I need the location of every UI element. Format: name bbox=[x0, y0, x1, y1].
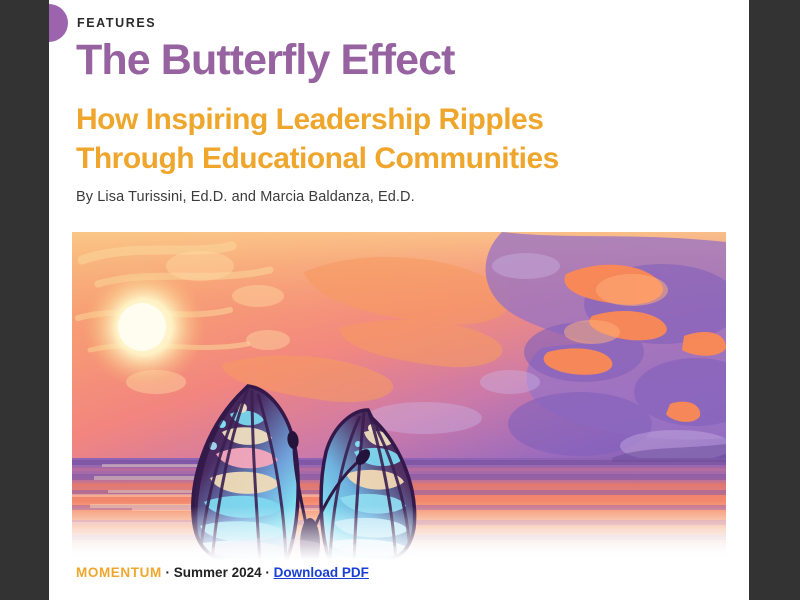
section-kicker: FEATURES bbox=[77, 16, 156, 30]
meta-separator-1: · bbox=[162, 565, 174, 580]
hero-image bbox=[72, 232, 726, 560]
publication-name: MOMENTUM bbox=[76, 565, 162, 580]
article-canvas: FEATURES The Butterfly Effect How Inspir… bbox=[49, 0, 749, 600]
meta-separator-2: · bbox=[262, 565, 274, 580]
article-meta: MOMENTUM · Summer 2024 · Download PDF bbox=[76, 565, 369, 580]
browser-page: FEATURES The Butterfly Effect How Inspir… bbox=[0, 0, 800, 600]
article-subtitle-line-2: Through Educational Communities bbox=[76, 139, 736, 178]
decorative-circle bbox=[49, 4, 68, 42]
article-subtitle: How Inspiring Leadership Ripples Through… bbox=[76, 100, 736, 178]
download-pdf-link[interactable]: Download PDF bbox=[274, 565, 369, 580]
article-byline: By Lisa Turissini, Ed.D. and Marcia Bald… bbox=[76, 189, 415, 205]
butterfly-sunset-illustration bbox=[72, 232, 726, 560]
article-subtitle-line-1: How Inspiring Leadership Ripples bbox=[76, 100, 736, 139]
issue-label: Summer 2024 bbox=[174, 565, 262, 580]
page-title: The Butterfly Effect bbox=[76, 36, 455, 84]
